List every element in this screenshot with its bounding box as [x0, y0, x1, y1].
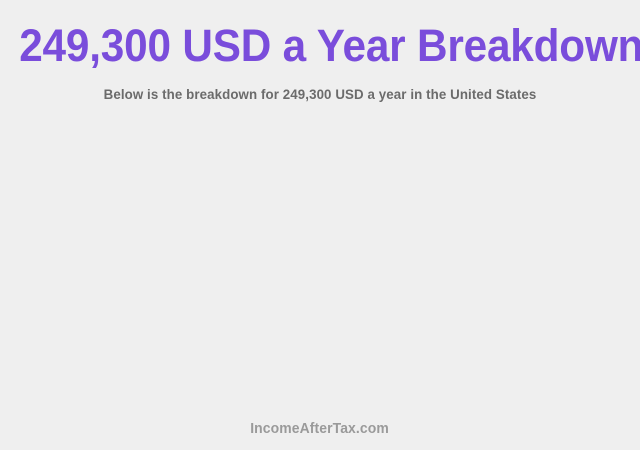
page-subtitle: Below is the breakdown for 249,300 USD a…: [16, 85, 624, 104]
page-title: 249,300 USD a Year Breakdown: [19, 21, 621, 71]
page-root: 249,300 USD a Year Breakdown Below is th…: [0, 0, 640, 450]
breakdown-content-area: [0, 112, 640, 410]
footer-site-credit: IncomeAfterTax.com: [251, 420, 390, 438]
page-footer: IncomeAfterTax.com: [0, 420, 640, 438]
